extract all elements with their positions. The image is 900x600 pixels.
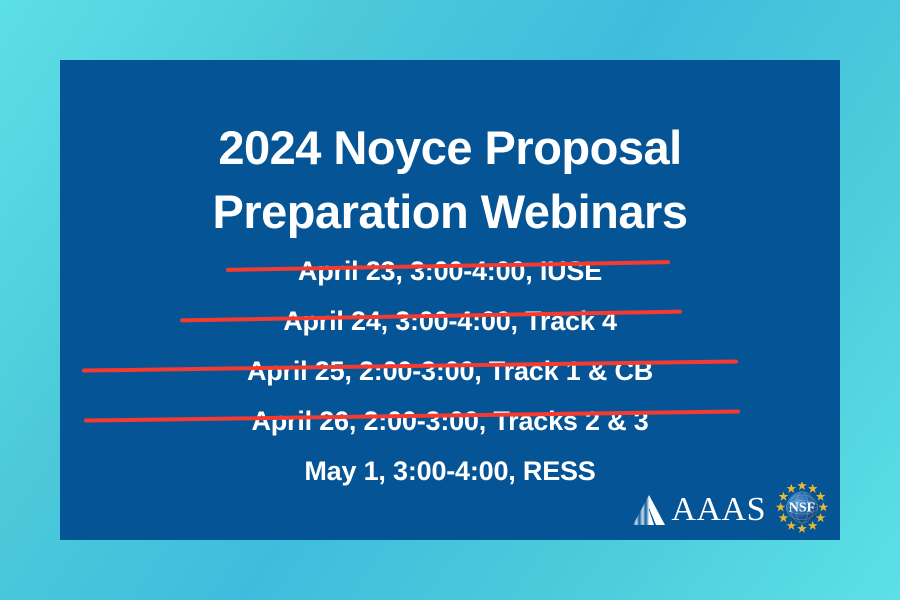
session-label-3: April 25, 2:00-3:00, Track 1 & CB [247, 346, 653, 396]
title-line-2: Preparation Webinars [60, 180, 840, 244]
title-line-1: 2024 Noyce Proposal [60, 116, 840, 180]
slide-canvas: 2024 Noyce Proposal Preparation Webinars… [0, 0, 900, 600]
session-list: April 23, 3:00-4:00, IUSE April 24, 3:00… [60, 246, 840, 496]
nsf-logo: NSF [774, 482, 830, 538]
nsf-wordmark: NSF [789, 501, 815, 516]
aaas-logo: AAAS [629, 490, 766, 530]
list-item: April 26, 2:00-3:00, Tracks 2 & 3 [60, 396, 840, 446]
session-label-4: April 26, 2:00-3:00, Tracks 2 & 3 [251, 396, 648, 446]
aaas-triangle-icon [629, 490, 669, 530]
logo-bar: AAAS [629, 482, 830, 538]
aaas-wordmark: AAAS [671, 493, 766, 527]
list-item: April 25, 2:00-3:00, Track 1 & CB [60, 346, 840, 396]
session-label-1: April 23, 3:00-4:00, IUSE [298, 246, 602, 296]
session-label-5: May 1, 3:00-4:00, RESS [304, 446, 595, 496]
list-item: April 23, 3:00-4:00, IUSE [60, 246, 840, 296]
page-title: 2024 Noyce Proposal Preparation Webinars [60, 116, 840, 244]
session-label-2: April 24, 3:00-4:00, Track 4 [283, 296, 617, 346]
list-item: April 24, 3:00-4:00, Track 4 [60, 296, 840, 346]
content-panel: 2024 Noyce Proposal Preparation Webinars… [60, 60, 840, 540]
